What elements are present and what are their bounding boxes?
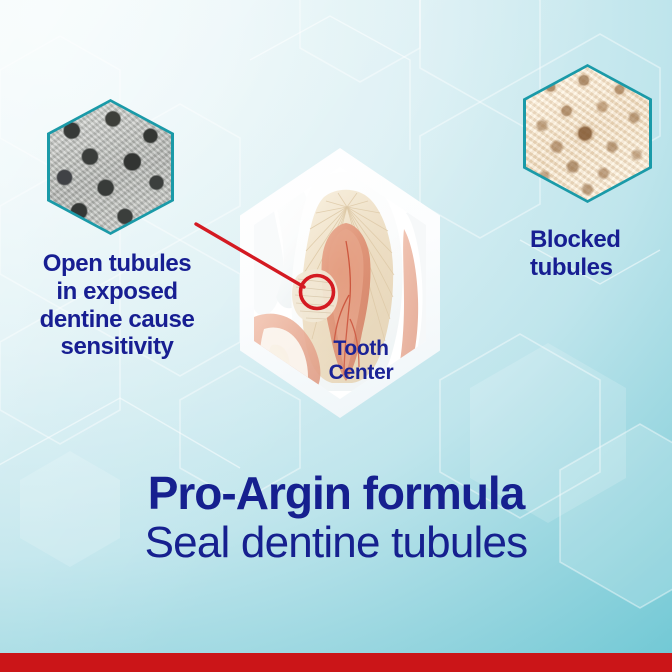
headline-line-2: Seal dentine tubules — [0, 518, 672, 567]
open-tubules-hexagon[interactable] — [47, 99, 174, 235]
caption-line: Open tubules — [6, 250, 228, 278]
blocked-tubules-hexagon[interactable] — [523, 64, 652, 203]
blocked-tubules-micrograph-image — [526, 67, 649, 200]
blocked-tubules-caption: Blocked tubules — [530, 226, 672, 282]
caption-line: in exposed — [6, 278, 228, 306]
open-tubules-micrograph-image — [50, 102, 171, 232]
caption-line: Blocked — [530, 226, 672, 254]
tooth-center-label: Tooth Center — [296, 337, 426, 384]
label-line: Tooth — [296, 337, 426, 361]
headline-block: Pro-Argin formula Seal dentine tubules — [0, 470, 672, 567]
open-tubules-caption: Open tubules in exposed dentine cause se… — [6, 250, 228, 361]
label-line: Center — [296, 361, 426, 385]
caption-line: tubules — [530, 254, 672, 282]
headline-line-1: Pro-Argin formula — [0, 470, 672, 518]
caption-line: dentine cause — [6, 306, 228, 334]
bottom-accent-bar — [0, 653, 672, 672]
infographic-canvas: Open tubules in exposed dentine cause se… — [0, 0, 672, 672]
caption-line: sensitivity — [6, 333, 228, 361]
